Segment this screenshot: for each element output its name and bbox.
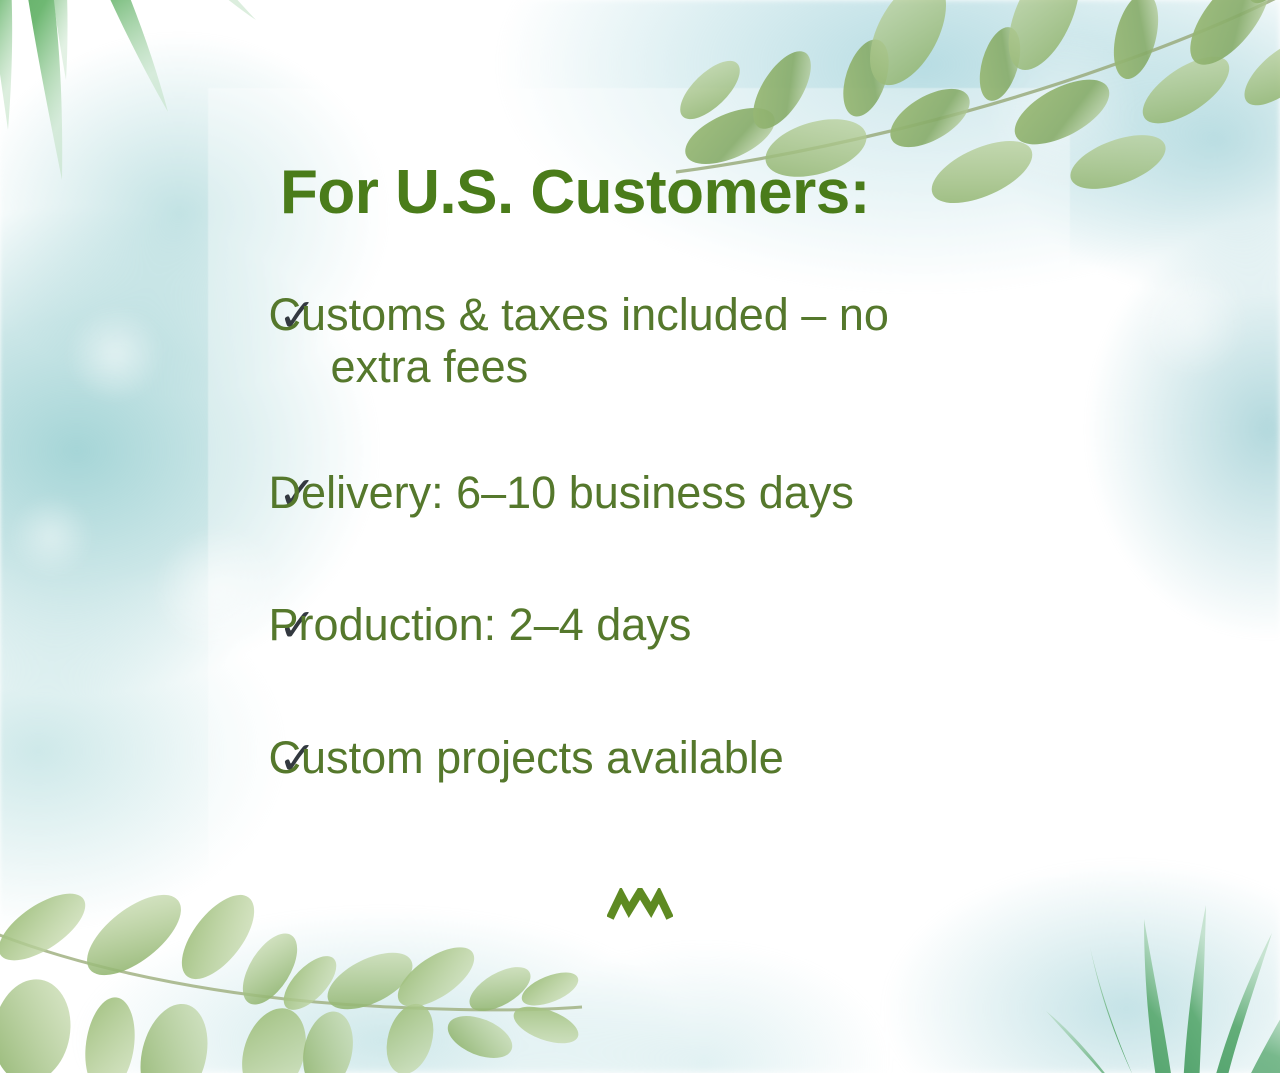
bamboo-leaves-top-left [0, 0, 290, 220]
list-item: ✓ Custom projects available [280, 732, 1080, 785]
benefits-list: ✓ Customs & taxes included – no extra fe… [280, 289, 1080, 785]
list-item: ✓ Production: 2–4 days [280, 599, 1080, 652]
list-item-label: Custom projects available [331, 732, 1080, 784]
list-item: ✓ Customs & taxes included – no extra fe… [280, 289, 1080, 393]
mm-zigzag-monogram-icon [607, 888, 673, 922]
list-item-label: Production: 2–4 days [331, 599, 1080, 651]
list-item-label: Delivery: 6–10 business days [331, 467, 1080, 519]
page-title: For U.S. Customers: [280, 160, 1080, 227]
list-item: ✓ Delivery: 6–10 business days [280, 467, 1080, 520]
list-item-label: Customs & taxes included – no extra fees [331, 289, 991, 393]
text-block: For U.S. Customers: ✓ Customs & taxes in… [280, 160, 1080, 785]
poster-canvas: For U.S. Customers: ✓ Customs & taxes in… [0, 0, 1280, 1073]
grass-blades-bottom-right [1000, 883, 1280, 1073]
eucalyptus-branch-bottom-left [0, 879, 590, 1073]
